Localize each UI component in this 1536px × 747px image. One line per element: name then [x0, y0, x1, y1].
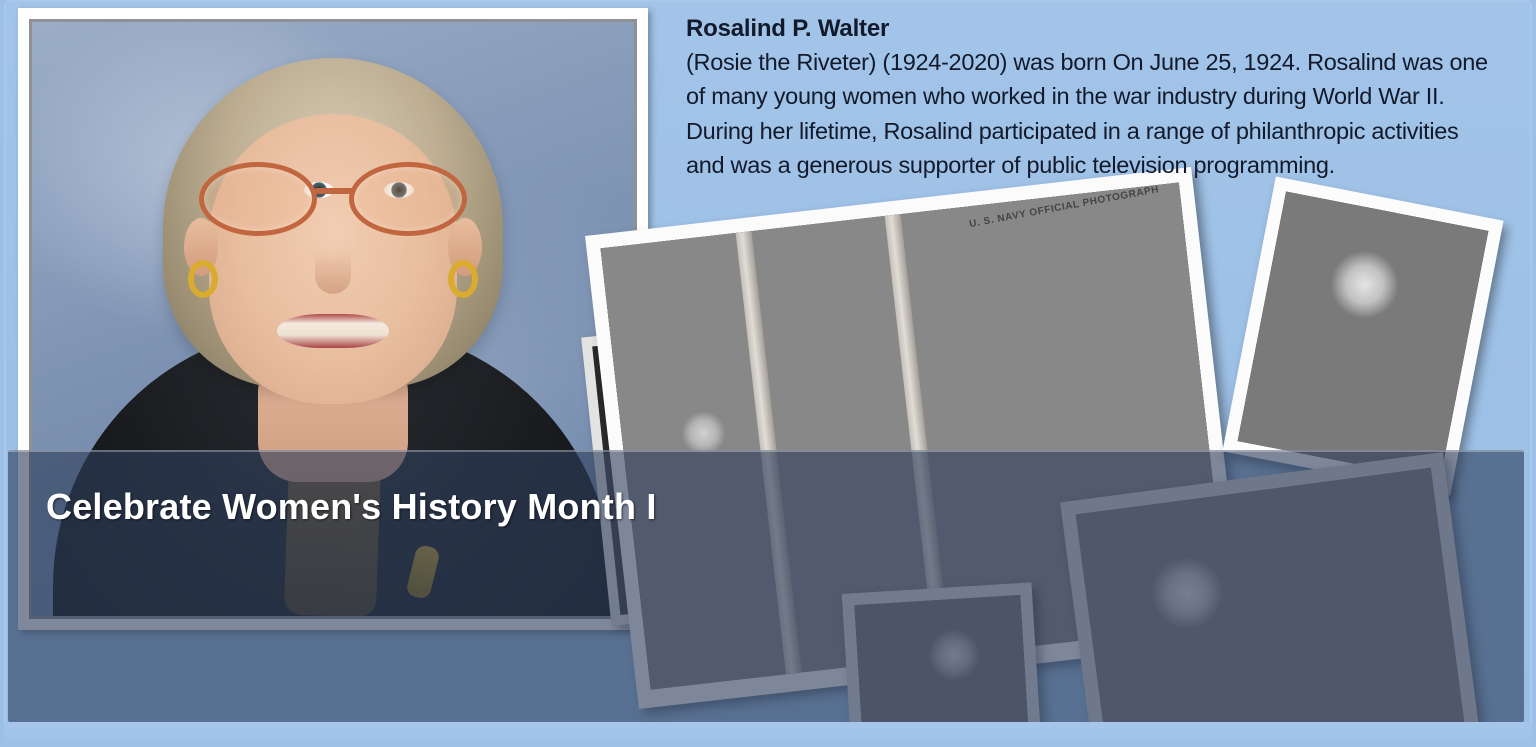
biography-paragraph: (Rosie the Riveter) (1924-2020) was born… — [686, 45, 1498, 183]
person-name-heading: Rosalind P. Walter — [686, 14, 1498, 45]
slide-canvas: U. S. NAVY OFFICIAL PHOTOGRAPH Rosalind … — [0, 0, 1536, 747]
collage-photo-woman-seated-at-machinery — [1222, 176, 1503, 495]
caption-title: Celebrate Women's History Month I — [46, 486, 657, 528]
collage-photo-image — [1238, 192, 1489, 481]
biography-text-block: Rosalind P. Walter (Rosie the Riveter) (… — [686, 14, 1498, 183]
bottom-edge-strip — [4, 722, 1532, 747]
caption-band-hairline — [8, 450, 1524, 452]
